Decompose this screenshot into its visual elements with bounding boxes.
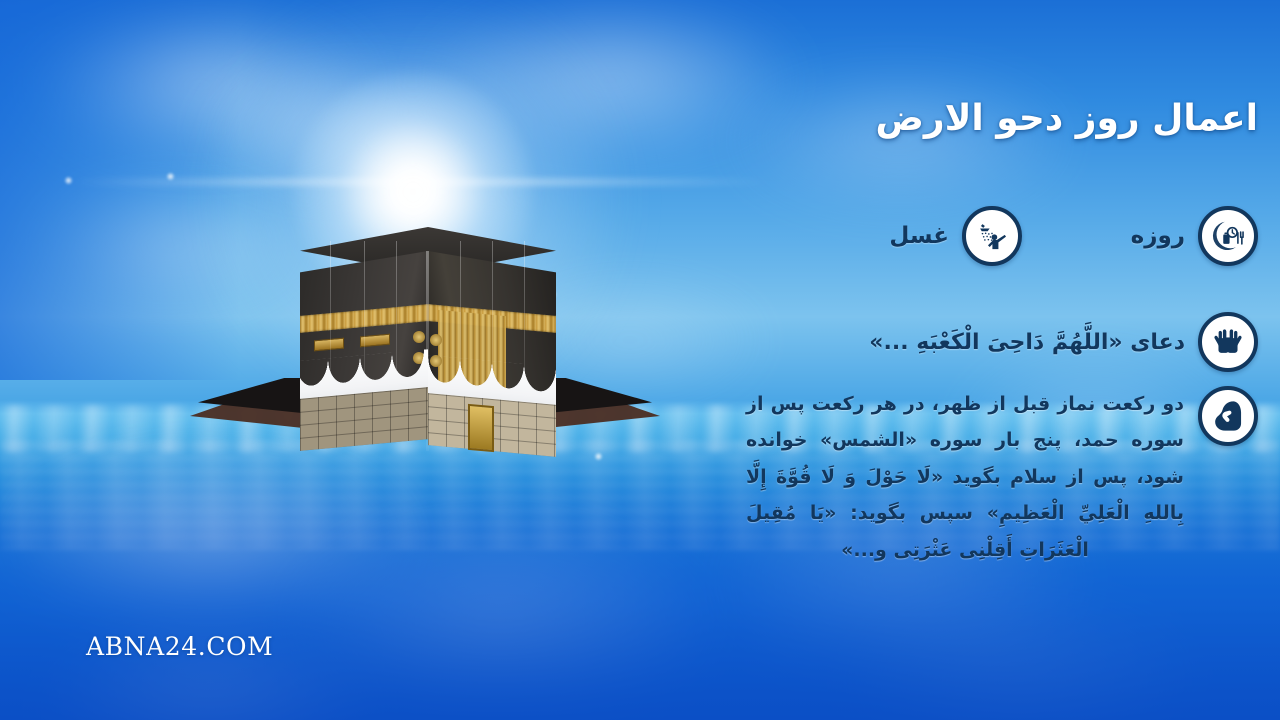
act-item-fasting[interactable]: روزه <box>1131 206 1258 266</box>
prayer-instruction-text: دو رکعت نماز قبل از ظهر، در هر رکعت پس ا… <box>746 386 1184 568</box>
sparkle-icon <box>166 172 175 181</box>
kaaba-door <box>468 404 494 452</box>
fasting-icon <box>1198 206 1258 266</box>
act-item-dua[interactable]: دعای «اللَّهُمَّ دَاحِیَ الْکَعْبَهِ ...… <box>869 312 1258 372</box>
act-item-ghusl[interactable]: غسل <box>889 206 1022 266</box>
prayer-instruction-block: دو رکعت نماز قبل از ظهر، در هر رکعت پس ا… <box>746 386 1258 568</box>
kaaba-illustration <box>278 215 578 455</box>
act-label-dua: دعای «اللَّهُمَّ دَاحِیَ الْکَعْبَهِ ...… <box>869 330 1185 355</box>
sparkle-icon <box>64 176 73 185</box>
praying-person-icon <box>1198 386 1258 446</box>
site-watermark: ABNA24.COM <box>86 632 273 661</box>
poster-canvas: اعمال روز دحو الارض روزه <box>0 0 1280 720</box>
act-label-fasting: روزه <box>1131 223 1185 249</box>
page-title: اعمال روز دحو الارض <box>875 98 1258 139</box>
kiswah-medallion <box>430 334 442 346</box>
content-panel: اعمال روز دحو الارض روزه <box>720 0 1280 720</box>
shower-icon <box>962 206 1022 266</box>
act-label-ghusl: غسل <box>889 223 949 249</box>
kiswah-medallion <box>413 331 425 343</box>
sparkle-icon <box>594 452 603 461</box>
kaaba-stone-plinth <box>300 387 428 451</box>
praying-hands-icon <box>1198 312 1258 372</box>
